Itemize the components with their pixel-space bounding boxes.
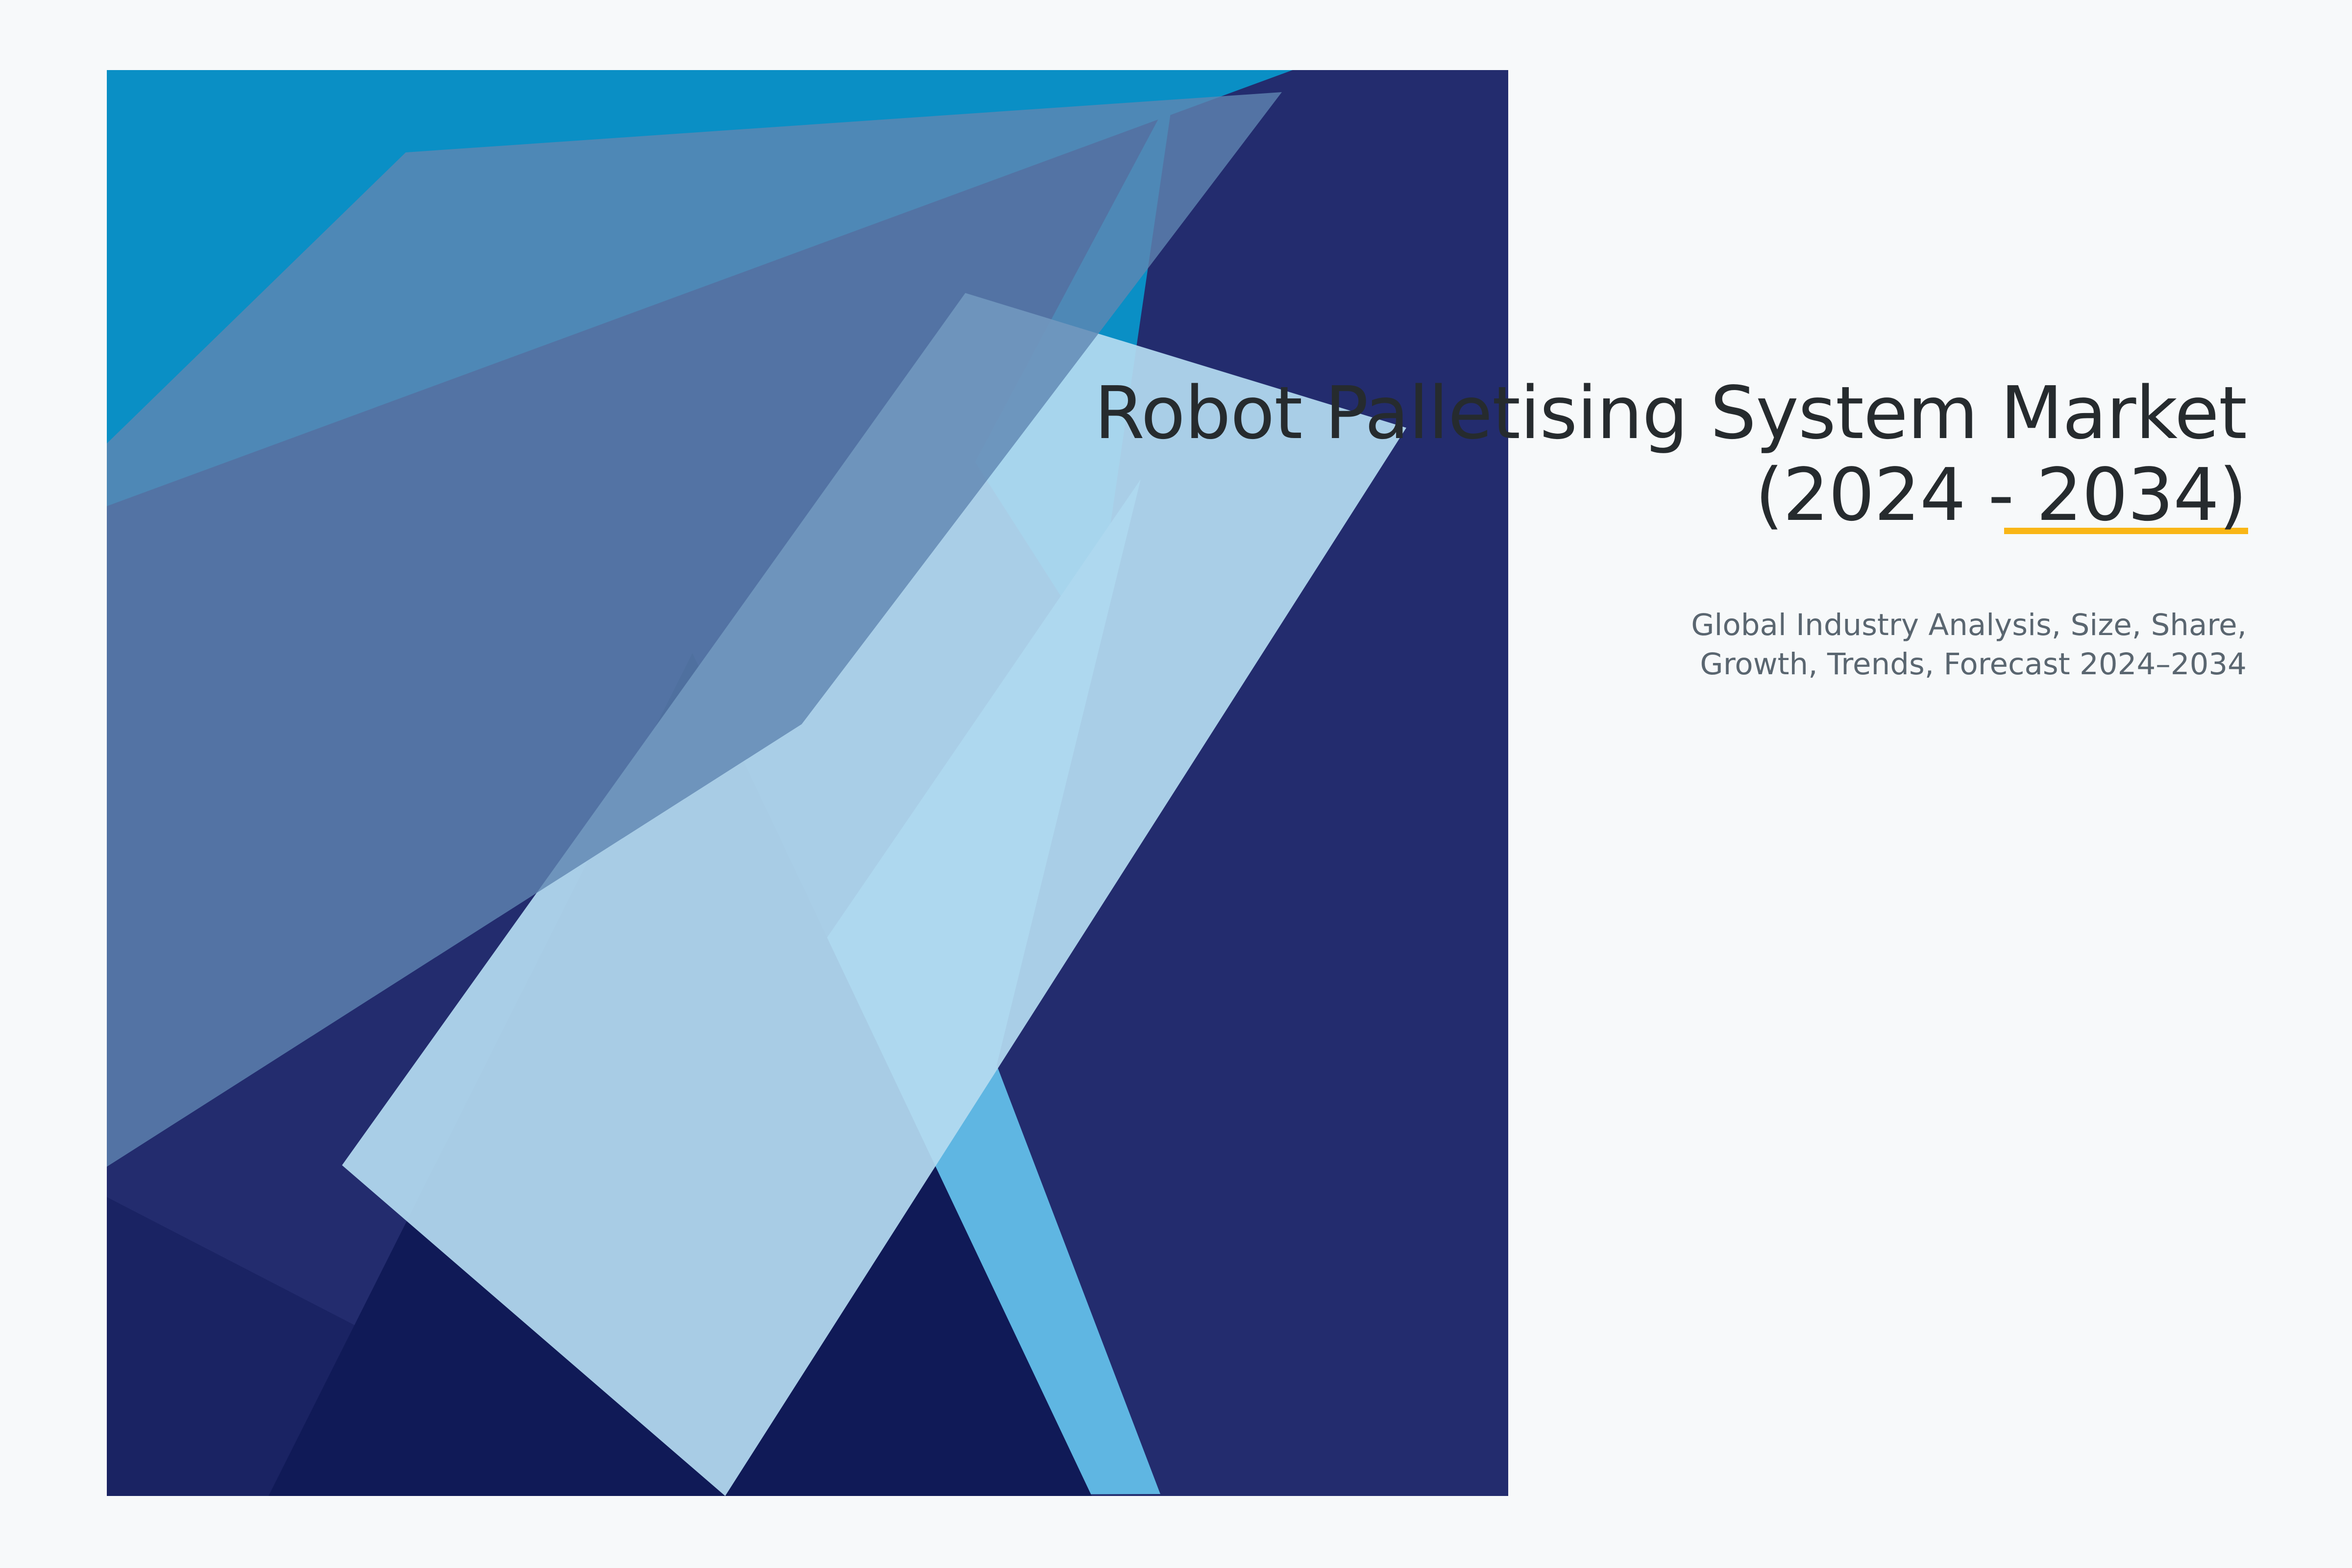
page-title-line-1: Robot Palletising System Market [1039,372,2247,454]
page-subtitle: Global Industry Analysis, Size, Share, G… [1039,536,2247,684]
abstract-geometric-cover-graphic [107,70,1508,1496]
page-title: Robot Palletising System Market (2024 - … [1039,372,2247,536]
page-subtitle-line-2: Growth, Trends, Forecast 2024–2034 [1039,645,2247,684]
cover-text-block: Robot Palletising System Market (2024 - … [1039,372,2247,684]
page-title-line-2: (2024 - 2034) [1039,454,2247,536]
report-cover-page: Robot Palletising System Market (2024 - … [0,0,2352,1568]
page-subtitle-line-1: Global Industry Analysis, Size, Share, [1039,606,2247,644]
